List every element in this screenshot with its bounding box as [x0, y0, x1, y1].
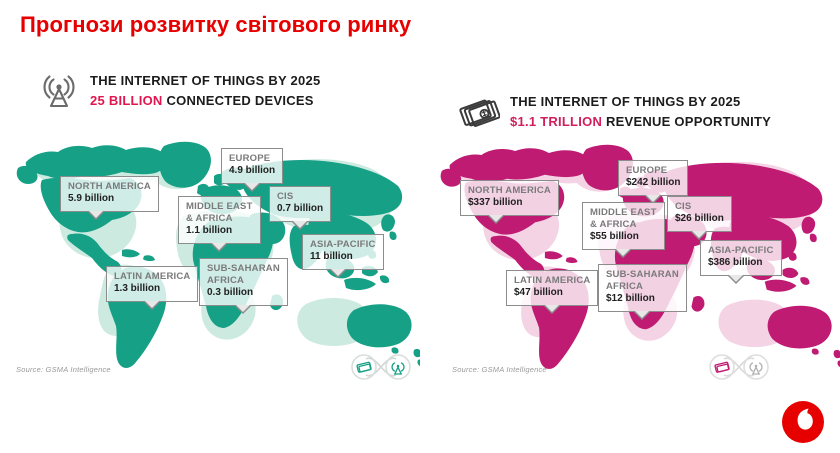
dual-icon-devices — [344, 350, 418, 384]
header-line-2: $1.1 TRILLION REVENUE OPPORTUNITY — [510, 114, 771, 129]
panel-devices-header-text: THE INTERNET OF THINGS BY 2025 25 BILLIO… — [90, 71, 420, 110]
vodafone-logo — [780, 399, 826, 445]
page-title: Прогнози розвитку світового ринку — [20, 12, 411, 38]
header-line-2-rest: CONNECTED DEVICES — [163, 93, 314, 108]
panel-revenue-header: THE INTERNET OF THINGS BY 2025 $1.1 TRIL… — [458, 91, 840, 133]
stacked-cards-icon — [357, 362, 371, 372]
callout-value: $26 billion — [675, 213, 724, 226]
callout-north-america: NORTH AMERICA 5.9 billion — [60, 176, 159, 212]
callout-region: CIS — [277, 191, 323, 203]
world-map-devices: NORTH AMERICA 5.9 billion EUROPE 4.9 bil… — [6, 128, 420, 378]
callout-region: SUB-SAHARAN — [606, 269, 679, 281]
callout-region: ASIA-PACIFIC — [310, 239, 376, 251]
callout-region: EUROPE — [626, 165, 680, 177]
header-accent: 25 BILLION — [90, 93, 163, 108]
callout-sub-saharan-africa: SUB-SAHARAN AFRICA $12 billion — [598, 264, 687, 312]
callout-middle-east-africa: MIDDLE EAST & AFRICA 1.1 billion — [178, 196, 261, 244]
callout-cis: CIS $26 billion — [667, 196, 732, 232]
callout-value: 4.9 billion — [229, 165, 275, 178]
callout-north-america: NORTH AMERICA $337 billion — [460, 180, 559, 216]
callout-region: NORTH AMERICA — [468, 185, 551, 197]
world-map-revenue: NORTH AMERICA $337 billion EUROPE $242 b… — [430, 130, 840, 380]
callout-europe: EUROPE 4.9 billion — [221, 148, 283, 184]
source-note-revenue: Source: GSMA Intelligence — [452, 365, 547, 374]
callout-value: $55 billion — [590, 231, 657, 244]
header-line-2-rest: REVENUE OPPORTUNITY — [602, 114, 771, 129]
callout-region-2: & AFRICA — [186, 213, 253, 225]
callout-region: NORTH AMERICA — [68, 181, 151, 193]
header-accent: $1.1 TRILLION — [510, 114, 602, 129]
callout-value: 5.9 billion — [68, 193, 151, 206]
callout-cis: CIS 0.7 billion — [269, 186, 331, 222]
callout-region: MIDDLE EAST — [590, 207, 657, 219]
source-note-devices: Source: GSMA Intelligence — [16, 365, 111, 374]
dual-icon-revenue — [702, 350, 776, 384]
callout-sub-saharan-africa: SUB-SAHARAN AFRICA 0.3 billion — [199, 258, 288, 306]
callout-region: CIS — [675, 201, 724, 213]
callout-region: ASIA-PACIFIC — [708, 245, 774, 257]
callout-middle-east-africa: MIDDLE EAST & AFRICA $55 billion — [582, 202, 665, 250]
callout-region: LATIN AMERICA — [114, 271, 190, 283]
header-line-1: THE INTERNET OF THINGS BY 2025 — [510, 94, 740, 109]
callout-region: MIDDLE EAST — [186, 201, 253, 213]
callout-region-2: AFRICA — [606, 281, 679, 293]
callout-value: $242 billion — [626, 177, 680, 190]
callout-region: LATIN AMERICA — [514, 275, 590, 287]
callout-asia-pacific: ASIA-PACIFIC 11 billion — [302, 234, 384, 270]
callout-value: $337 billion — [468, 197, 551, 210]
callout-value: $12 billion — [606, 293, 679, 306]
callout-latin-america: LATIN AMERICA $47 billion — [506, 270, 598, 306]
stacked-cards-icon — [715, 362, 729, 372]
callout-europe: EUROPE $242 billion — [618, 160, 688, 196]
callout-region-2: AFRICA — [207, 275, 280, 287]
tower-signal-icon — [750, 363, 762, 374]
callout-value: $47 billion — [514, 287, 590, 300]
callout-region: EUROPE — [229, 153, 275, 165]
stacked-cards-icon — [458, 91, 500, 133]
callout-value: 1.3 billion — [114, 283, 190, 296]
callout-value: 11 billion — [310, 251, 376, 264]
callout-value: 1.1 billion — [186, 225, 253, 238]
callout-value: $386 billion — [708, 257, 774, 270]
callout-latin-america: LATIN AMERICA 1.3 billion — [106, 266, 198, 302]
panel-revenue: THE INTERNET OF THINGS BY 2025 $1.1 TRIL… — [430, 60, 840, 420]
tower-signal-icon — [392, 363, 404, 374]
callout-value: 0.3 billion — [207, 287, 280, 300]
callout-region-2: & AFRICA — [590, 219, 657, 231]
radio-tower-icon — [38, 70, 80, 112]
callout-asia-pacific: ASIA-PACIFIC $386 billion — [700, 240, 782, 276]
header-line-2: 25 BILLION CONNECTED DEVICES — [90, 93, 314, 108]
panel-revenue-header-text: THE INTERNET OF THINGS BY 2025 $1.1 TRIL… — [510, 92, 840, 131]
header-line-1: THE INTERNET OF THINGS BY 2025 — [90, 73, 320, 88]
callout-value: 0.7 billion — [277, 203, 323, 216]
callout-region: SUB-SAHARAN — [207, 263, 280, 275]
panel-devices: THE INTERNET OF THINGS BY 2025 25 BILLIO… — [6, 60, 420, 420]
panel-devices-header: THE INTERNET OF THINGS BY 2025 25 BILLIO… — [38, 70, 420, 112]
